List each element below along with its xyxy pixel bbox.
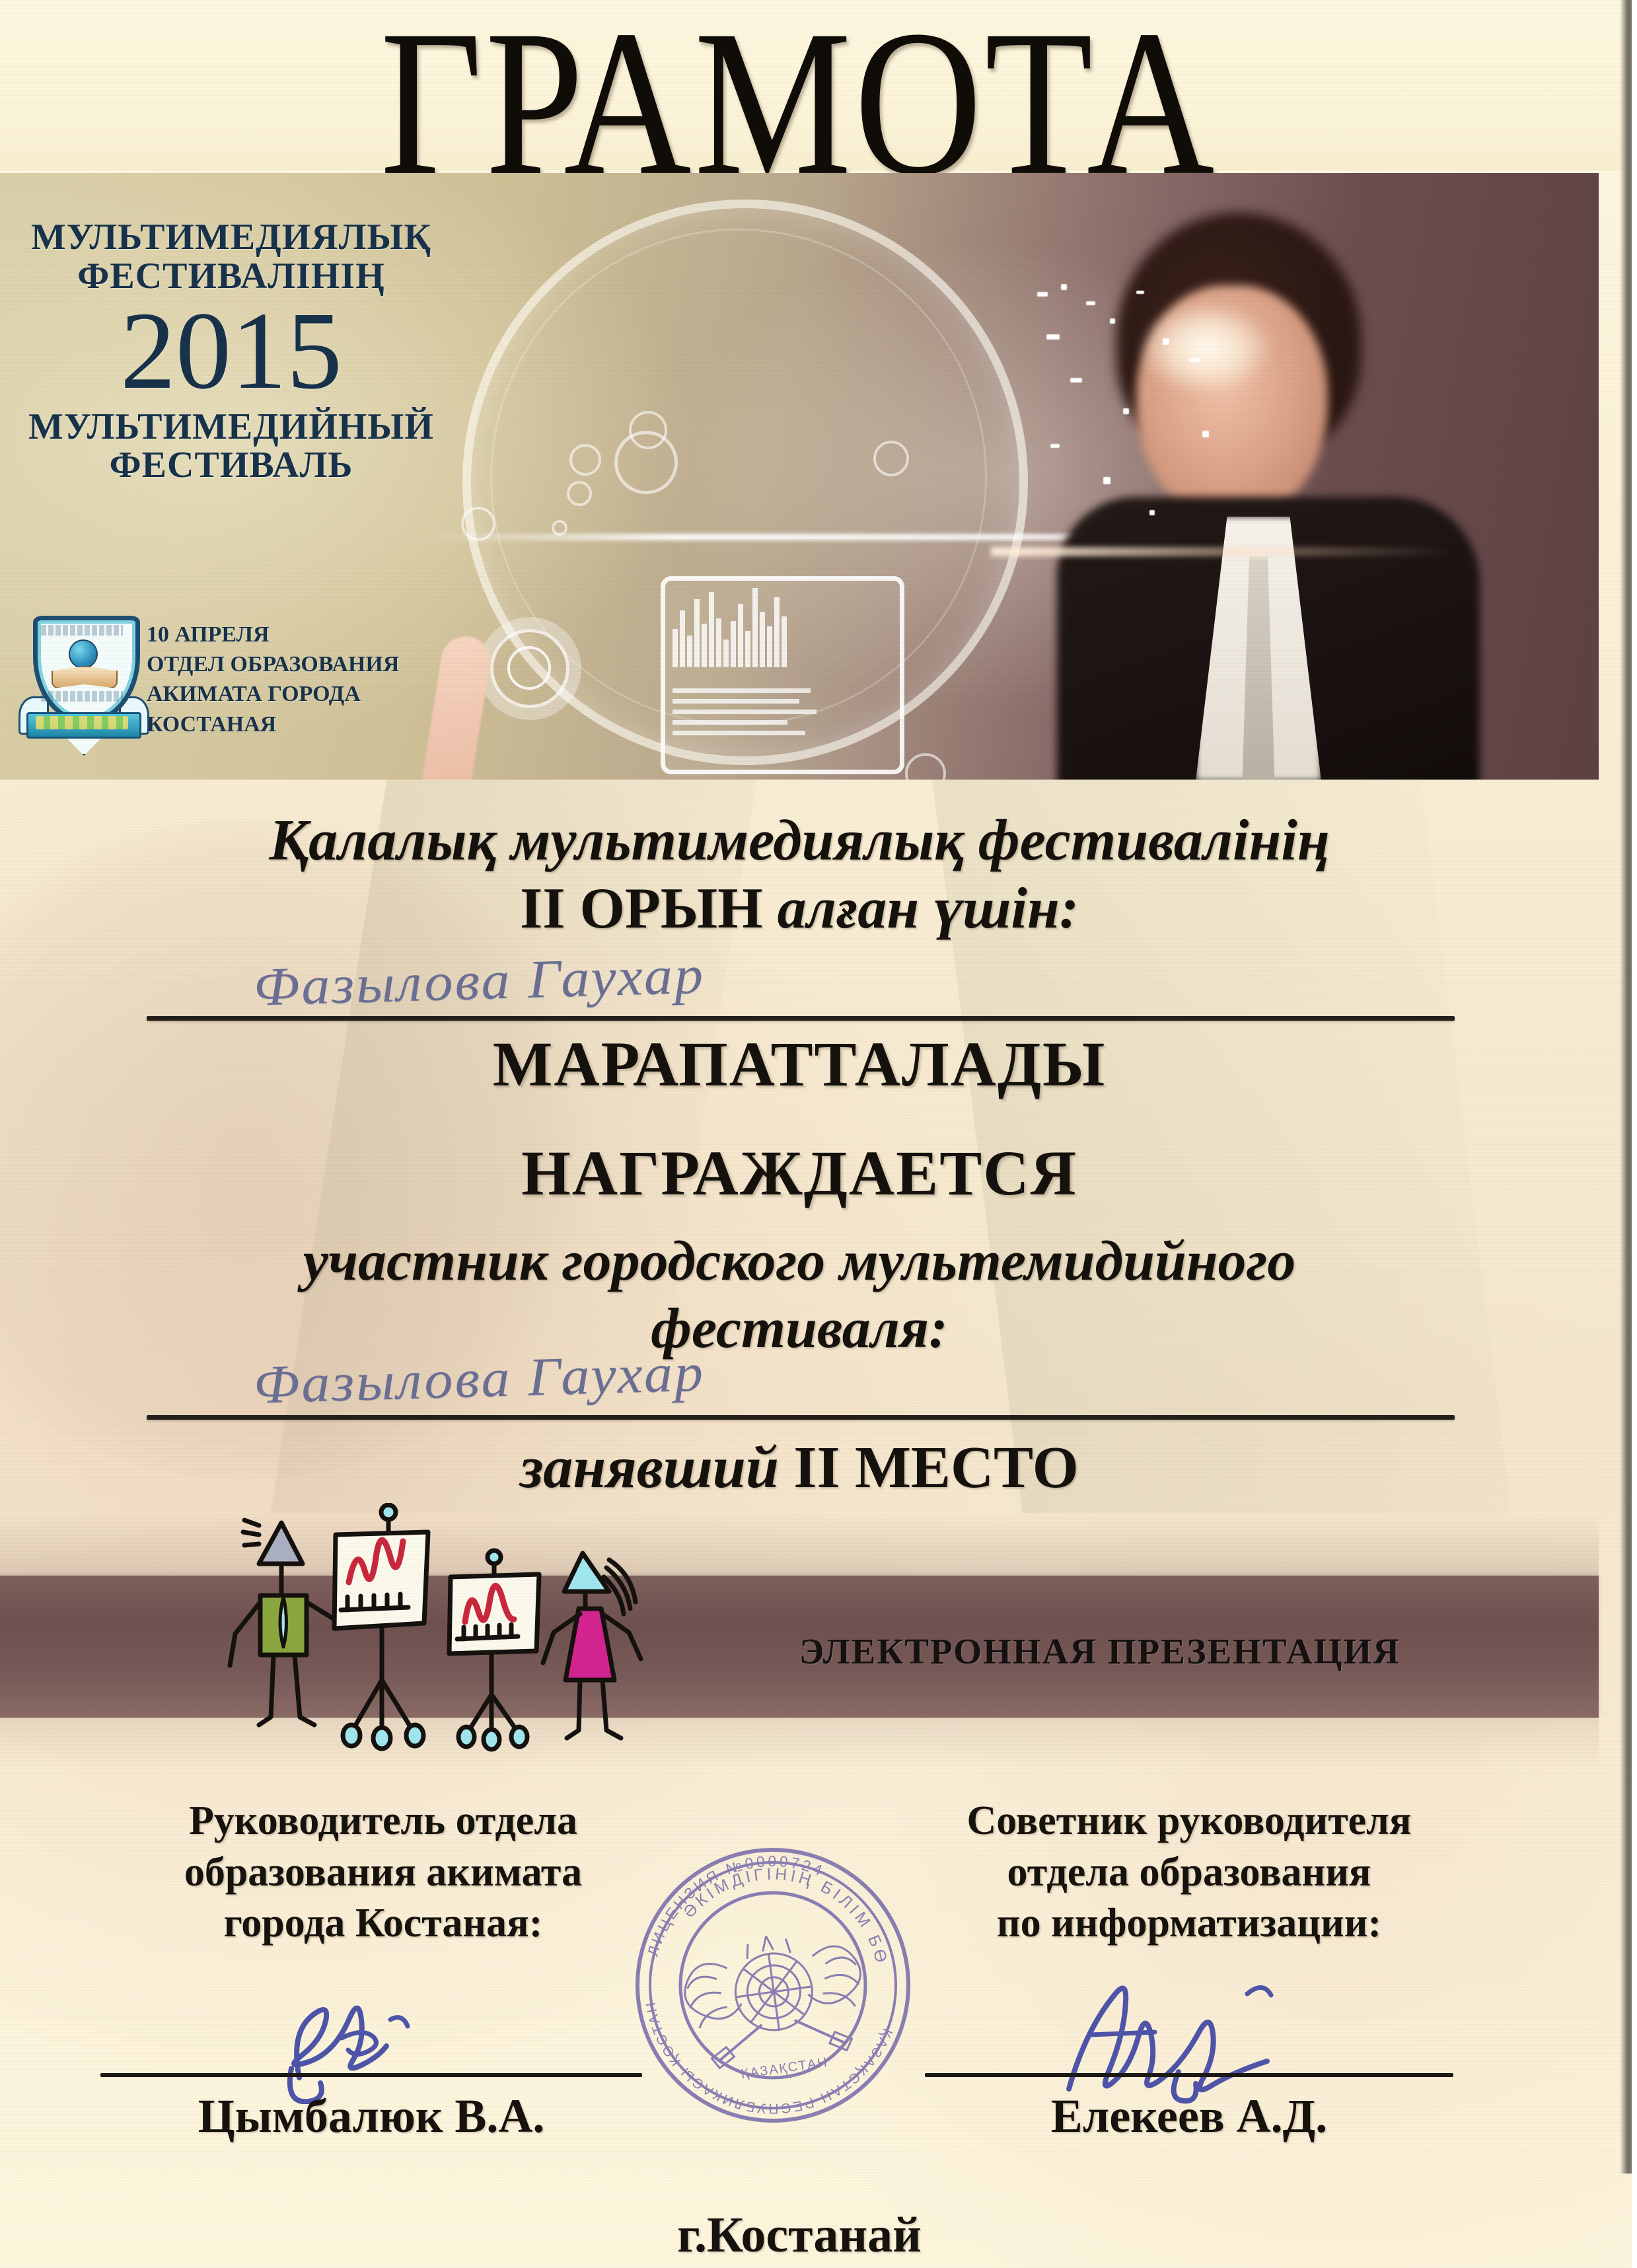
signer-role-left-line1: Руководитель отдела <box>79 1796 687 1847</box>
signature-rule-left <box>100 2073 642 2077</box>
signer-role-left-line2: образования акимата <box>79 1847 687 1899</box>
hud-textlines-icon <box>673 688 817 741</box>
recipient-rule-ru <box>147 1415 1455 1420</box>
festival-year: 2015 <box>7 297 456 405</box>
scan-edge-white <box>1632 0 1637 2268</box>
signer-role-right-line2: отдела образования <box>872 1847 1506 1899</box>
signature-block-right: Советник руководителя отдела образования… <box>872 1796 1506 1950</box>
award-verb-kz: МАРАПАТТАЛАДЫ <box>0 1027 1599 1101</box>
school-emblem-icon <box>18 613 144 745</box>
recipient-handwritten-kz: Фазылова Гаухар <box>253 943 706 1018</box>
organizer-line-4: КОСТАНАЯ <box>147 710 457 739</box>
hud-bubble-icon <box>873 441 909 476</box>
stick-figures-illustration <box>218 1503 694 1767</box>
recipient-rule-kz <box>147 1016 1455 1021</box>
kazakh-place-value: II ОРЫН <box>520 877 763 941</box>
kazakh-place-suffix: алған үшін: <box>778 877 1079 941</box>
official-stamp-icon: ЛИЦЕНЗИЯ №0000724 ӘКІМДІГІНІҢ БІЛІМ БӨЛІ… <box>631 1830 915 2140</box>
category-label: ЭЛЕКТРОННАЯ ПРЕЗЕНТАЦИЯ <box>753 1630 1447 1672</box>
hud-chart-icon <box>673 588 824 667</box>
signature-block-left: Руководитель отдела образования акимата … <box>79 1796 687 1950</box>
signer-role-right-line3: по информатизации: <box>872 1898 1506 1950</box>
festival-ru-line1: МУЛЬТИМЕДИЙНЫЙ <box>7 408 456 447</box>
festival-header: МУЛЬТИМЕДИЯЛЫҚ ФЕСТИВАЛІНІҢ 2015 МУЛЬТИМ… <box>7 218 456 485</box>
organizer-line-3: АКИМАТА ГОРОДА <box>147 679 457 709</box>
russian-place-line: занявший II МЕСТО <box>0 1434 1599 1502</box>
signer-role-right-line1: Советник руководителя <box>872 1796 1506 1847</box>
organizer-line-1: 10 АПРЕЛЯ <box>147 620 457 649</box>
certificate-page: ГРАМОТА <box>0 0 1637 2268</box>
spark-particles-icon <box>1031 279 1229 556</box>
festival-kz-line1: МУЛЬТИМЕДИЯЛЫҚ <box>7 218 456 257</box>
signer-name-right: Елекеев А.Д. <box>885 2089 1493 2144</box>
city-label: г.Костанай <box>0 2207 1599 2264</box>
russian-place-prefix: занявший <box>520 1435 779 1500</box>
festival-ru-line2: ФЕСТИВАЛЬ <box>7 446 456 485</box>
organizer-text: 10 АПРЕЛЯ ОТДЕЛ ОБРАЗОВАНИЯ АКИМАТА ГОРО… <box>147 620 457 739</box>
hud-bubble-icon <box>567 481 592 506</box>
hud-bubble-icon <box>569 444 601 476</box>
signature-rule-right <box>925 2073 1453 2077</box>
kazakh-place-line: II ОРЫН алған үшін: <box>0 875 1599 942</box>
award-verb-ru: НАГРАЖДАЕТСЯ <box>0 1136 1599 1210</box>
kazakh-line-1: Қалалық мультимедиялық фестивалінің <box>0 807 1599 874</box>
russian-place-value: II МЕСТО <box>793 1435 1078 1500</box>
russian-line-1: участник городского мультемидийного <box>0 1227 1599 1294</box>
signer-role-left-line3: города Костаная: <box>79 1898 687 1950</box>
hud-bubble-icon <box>614 431 678 494</box>
russian-line-2: фестиваля: <box>0 1295 1599 1361</box>
recipient-handwritten-ru: Фазылова Гаухар <box>253 1341 706 1416</box>
organizer-line-2: ОТДЕЛ ОБРАЗОВАНИЯ <box>147 649 457 679</box>
signer-name-left: Цымбалюк В.А. <box>81 2089 662 2144</box>
